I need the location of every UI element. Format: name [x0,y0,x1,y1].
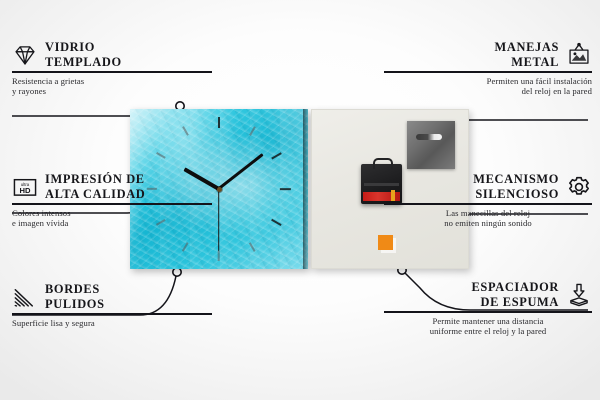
feature-rule [12,71,212,73]
feature-title: BORDES PULIDOS [45,282,105,311]
feature-subtitle: Las manecillas del reloj no emiten ningú… [384,208,592,229]
feature-bordes-pulidos: BORDES PULIDOS Superficie lisa y segura [12,282,212,328]
feature-rule [384,311,592,313]
mechanism-loop [373,158,393,169]
feature-header: BORDES PULIDOS [12,282,212,311]
feature-title: VIDRIO TEMPLADO [45,40,122,69]
foam-spacer-icon [566,282,592,308]
diamond-icon [12,42,38,68]
clock-tick [219,188,291,190]
connector-dot-bordes [173,268,181,276]
feature-mecanismo-silencioso: MECANISMO SILENCIOSO Las manecillas del … [384,172,592,229]
gear-icon [566,174,592,200]
foam-spacer [378,235,393,250]
feature-subtitle: Resistencia a grietas y rayones [12,76,212,97]
feature-espaciador-espuma: ESPACIADOR DE ESPUMA Permite mantener un… [384,280,592,337]
feature-title: IMPRESIÓN DE ALTA CALIDAD [45,172,145,201]
feature-header: MANEJAS METAL [384,40,592,69]
feature-title: MECANISMO SILENCIOSO [473,172,559,201]
feature-subtitle: Permite mantener una distancia uniforme … [384,316,592,337]
feature-rule [384,71,592,73]
feature-manejas-metal: MANEJAS METAL Permiten una fácil instala… [384,40,592,97]
feature-rule [12,203,212,205]
feature-subtitle: Superficie lisa y segura [12,318,212,329]
svg-text:HD: HD [19,186,31,195]
feature-title: MANEJAS METAL [495,40,559,69]
clock-glass-edge [303,109,308,269]
feature-header: VIDRIO TEMPLADO [12,40,212,69]
hanger-slot [416,134,442,140]
feature-vidrio-templado: VIDRIO TEMPLADO Resistencia a grietas y … [12,40,212,97]
infographic-canvas: VIDRIO TEMPLADO Resistencia a grietas y … [0,0,600,400]
feature-impresion-alta-calidad: ultra HD IMPRESIÓN DE ALTA CALIDAD Color… [12,172,212,229]
feature-subtitle: Colores intensos e imagen vívida [12,208,212,229]
feature-header: ESPACIADOR DE ESPUMA [384,280,592,309]
feature-header: ultra HD IMPRESIÓN DE ALTA CALIDAD [12,172,212,201]
ultra-hd-icon: ultra HD [12,174,38,200]
polished-edges-icon [12,284,38,310]
feature-rule [384,203,592,205]
clock-tick [218,117,220,189]
feature-title: ESPACIADOR DE ESPUMA [471,280,559,309]
hanger-plate [407,121,455,169]
feature-subtitle: Permiten una fácil instalación del reloj… [384,76,592,97]
feature-rule [12,313,212,315]
clock-center-pin [217,187,222,192]
framed-picture-icon [566,42,592,68]
feature-header: MECANISMO SILENCIOSO [384,172,592,201]
